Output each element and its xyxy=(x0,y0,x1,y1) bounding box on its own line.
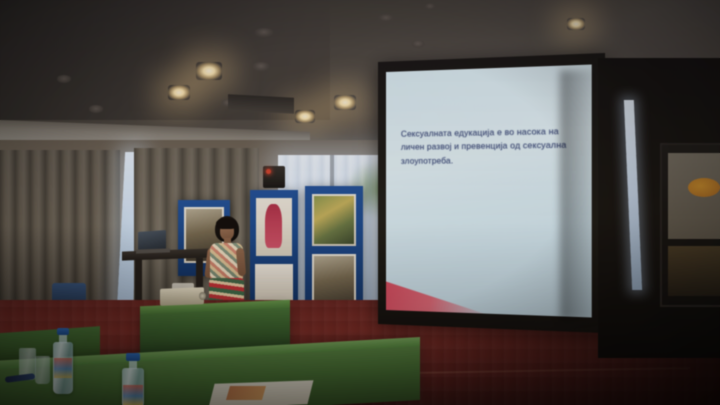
paper-printed-graphic xyxy=(226,386,266,400)
bottle-neck xyxy=(129,360,137,369)
board-lower-panel xyxy=(255,264,293,304)
ceiling-vent xyxy=(253,62,269,71)
ceiling-vent xyxy=(411,40,425,48)
bottle-cap xyxy=(126,353,140,361)
ceiling-light xyxy=(196,62,222,80)
ceiling-light xyxy=(567,18,585,30)
poster-logo-oval xyxy=(688,178,720,197)
presenter-arm-right xyxy=(236,248,246,277)
poster-landscape-image xyxy=(314,196,354,244)
poster-figure-image xyxy=(265,204,282,248)
air-conditioning-vent xyxy=(228,94,294,113)
projector-lens xyxy=(199,292,206,300)
screen-drop-shadow xyxy=(560,70,600,320)
projector xyxy=(160,287,204,306)
ceiling-vent xyxy=(89,105,103,113)
av-table-leg xyxy=(135,258,142,303)
bottle-label xyxy=(54,358,72,378)
board-artwork xyxy=(256,198,292,256)
slide-accent-band xyxy=(386,270,498,318)
ceiling-vent xyxy=(424,3,436,10)
ceiling-light xyxy=(168,85,190,100)
display-board-center xyxy=(250,190,298,308)
board-artwork-top xyxy=(312,194,356,246)
ceiling-light xyxy=(334,95,356,110)
slide-body-text: Сексуалната едукација е во насока на лич… xyxy=(401,124,575,167)
framed-poster-lower xyxy=(668,246,720,296)
ceiling-light xyxy=(295,110,315,123)
ceiling-vent xyxy=(255,28,273,37)
presenter-fringe xyxy=(216,218,237,229)
bottle-cap xyxy=(57,328,69,335)
drinking-glass xyxy=(35,356,50,384)
bottle-label xyxy=(123,385,143,405)
speaker-led-indicator xyxy=(266,169,271,174)
ceiling-vent xyxy=(378,14,394,22)
display-board-right xyxy=(305,186,363,318)
bottle-neck xyxy=(59,334,67,343)
framed-poster-content xyxy=(668,153,720,239)
conference-room-photo: Сексуалната едукација е во насока на лич… xyxy=(0,0,720,405)
ceiling-vent xyxy=(57,75,71,83)
